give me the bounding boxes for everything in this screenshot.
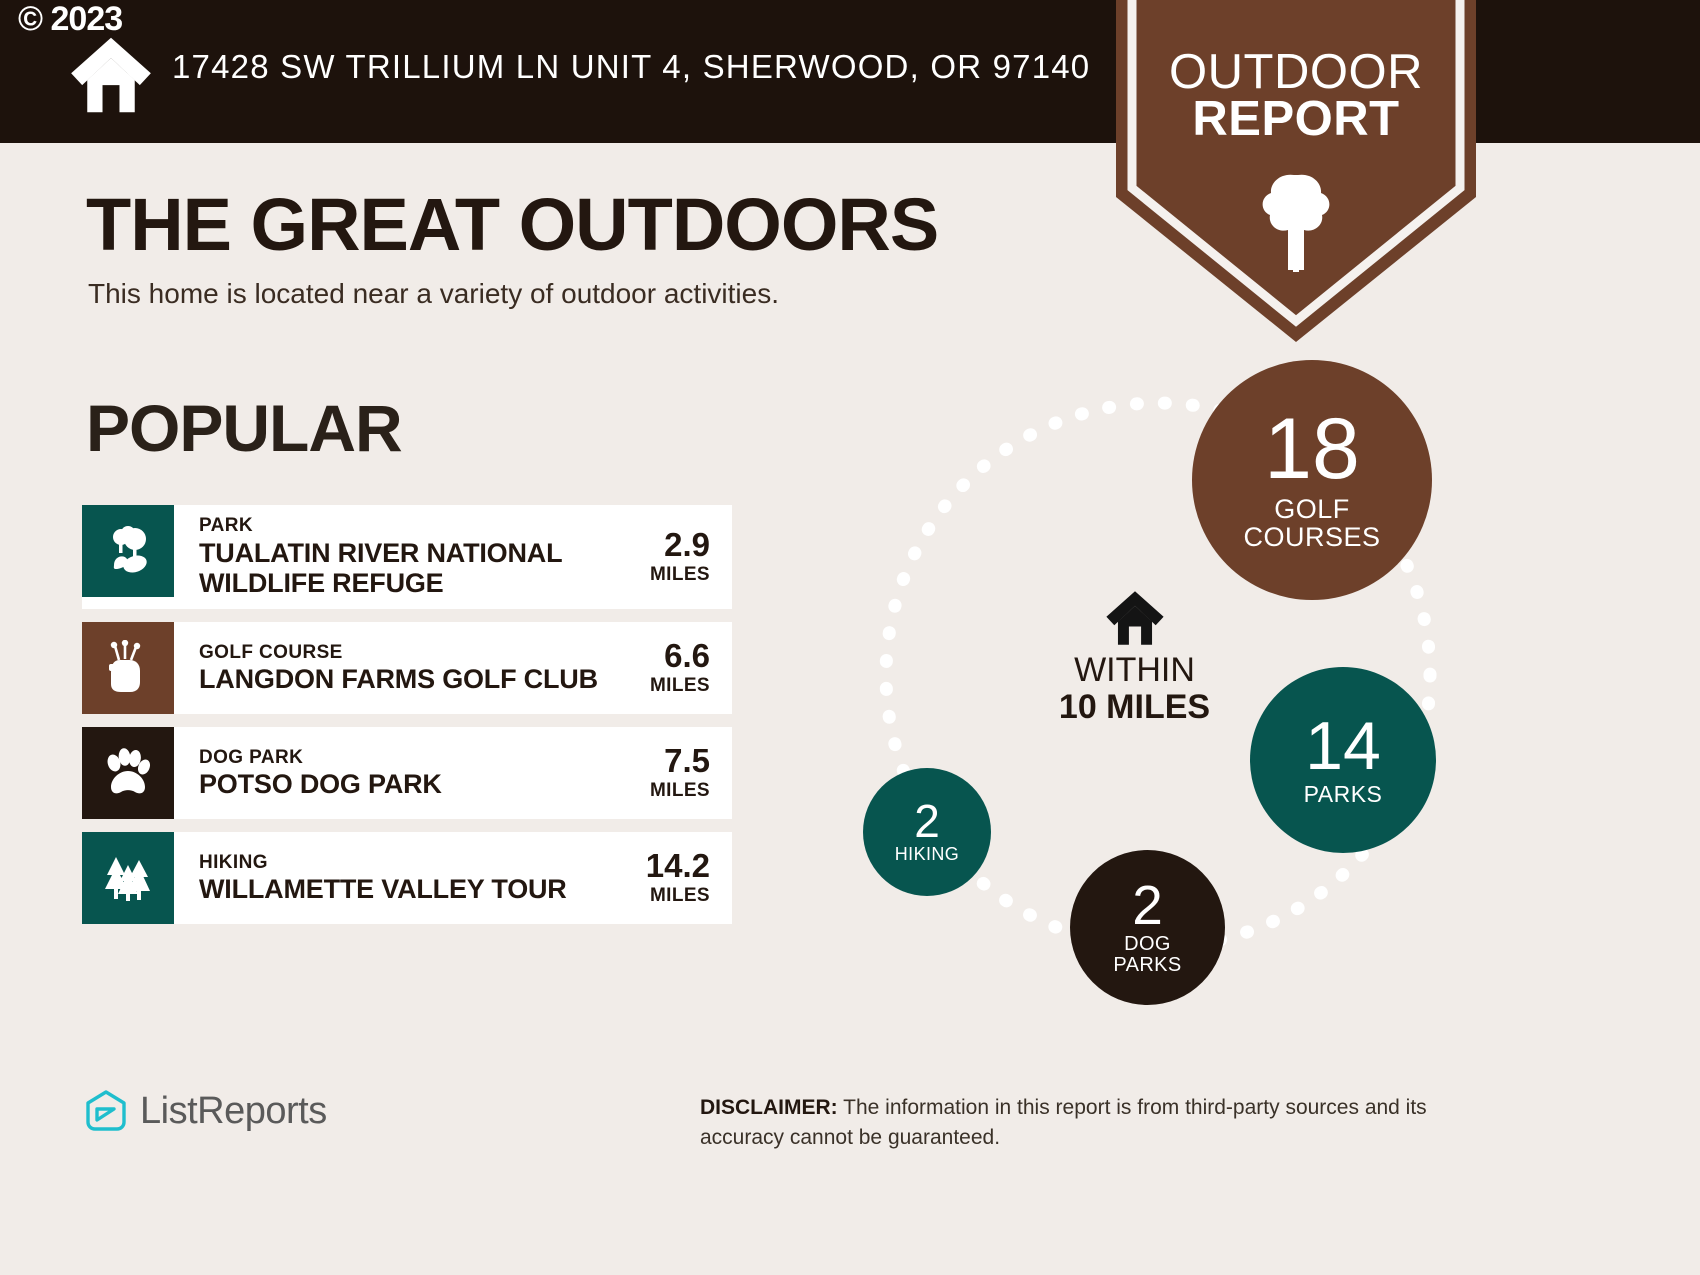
list-item-distance: 14.2 xyxy=(646,849,710,882)
diagram-center: WITHIN 10 MILES xyxy=(1032,590,1237,727)
list-item[interactable]: GOLF COURSE LANGDON FARMS GOLF CLUB 6.6 … xyxy=(82,622,732,714)
paw-print-icon xyxy=(82,727,174,819)
list-item-distance: 2.9 xyxy=(664,528,710,561)
page-subtitle: This home is located near a variety of o… xyxy=(88,278,779,310)
list-item-unit: MILES xyxy=(650,564,710,586)
diagram-center-line1: WITHIN xyxy=(1032,652,1237,689)
diagram-center-line2: 10 MILES xyxy=(1032,689,1237,726)
bubble-dog-parks[interactable]: 2 DOG PARKS xyxy=(1070,850,1225,1005)
list-item-unit: MILES xyxy=(650,780,710,802)
bubble-label: HIKING xyxy=(895,845,959,864)
list-item-category: PARK xyxy=(199,515,612,537)
badge-line-1: OUTDOOR xyxy=(1169,45,1423,99)
badge-line-2: REPORT xyxy=(1192,92,1399,146)
listreports-house-icon xyxy=(84,1089,128,1133)
list-item-name-line1: TUALATIN RIVER NATIONAL xyxy=(199,538,562,568)
listreports-logo[interactable]: ListReports xyxy=(84,1089,327,1133)
bubble-parks[interactable]: 14 PARKS xyxy=(1250,667,1436,853)
page-title: THE GREAT OUTDOORS xyxy=(86,188,938,262)
outdoor-report-badge: OUTDOOR REPORT xyxy=(1116,0,1476,347)
list-item-category: HIKING xyxy=(199,852,612,874)
listreports-logo-text: ListReports xyxy=(140,1090,327,1133)
list-item[interactable]: DOG PARK POTSO DOG PARK 7.5 MILES xyxy=(82,727,732,819)
list-item-unit: MILES xyxy=(650,885,710,907)
list-item-name-line2: WILDLIFE REFUGE xyxy=(199,568,443,598)
bubble-label: DOG PARKS xyxy=(1113,934,1181,976)
bubble-label: GOLF COURSES xyxy=(1243,495,1380,552)
golf-bag-icon xyxy=(82,622,174,714)
bubble-label-line1: GOLF xyxy=(1274,494,1350,524)
disclaimer-label: DISCLAIMER: xyxy=(700,1096,838,1119)
bubble-label-line2: PARKS xyxy=(1113,954,1181,976)
list-item-name: POTSO DOG PARK xyxy=(199,770,612,800)
bubble-label-line2: COURSES xyxy=(1243,522,1380,552)
list-item-name: TUALATIN RIVER NATIONAL WILDLIFE REFUGE xyxy=(199,538,612,598)
disclaimer: DISCLAIMER: The information in this repo… xyxy=(700,1093,1490,1154)
list-item-category: GOLF COURSE xyxy=(199,642,612,664)
section-heading-popular: POPULAR xyxy=(86,395,402,461)
list-item-distance: 6.6 xyxy=(664,639,710,672)
list-item[interactable]: HIKING WILLAMETTE VALLEY TOUR 14.2 MILES xyxy=(82,832,732,924)
list-item-category: DOG PARK xyxy=(199,747,612,769)
list-item-distance: 7.5 xyxy=(664,744,710,777)
bubble-count: 14 xyxy=(1305,714,1381,779)
home-icon xyxy=(68,36,154,114)
pine-trees-icon xyxy=(82,832,174,924)
within-10-miles-diagram: 18 GOLF COURSES 14 PARKS 2 DOG PARKS 2 H… xyxy=(820,345,1500,1025)
property-address: 17428 SW TRILLIUM LN UNIT 4, SHERWOOD, O… xyxy=(172,48,1090,86)
bubble-count: 18 xyxy=(1264,409,1360,491)
park-trees-icon xyxy=(82,505,174,597)
bubble-hiking[interactable]: 2 HIKING xyxy=(863,768,991,896)
copyright-text: © 2023 xyxy=(18,2,122,36)
list-item-unit: MILES xyxy=(650,675,710,697)
bubble-count: 2 xyxy=(1132,879,1163,931)
bubble-label: PARKS xyxy=(1304,782,1383,806)
bubble-count: 2 xyxy=(914,800,940,844)
bubble-label-line1: DOG xyxy=(1124,933,1171,955)
popular-list: PARK TUALATIN RIVER NATIONAL WILDLIFE RE… xyxy=(82,505,732,937)
bubble-golf-courses[interactable]: 18 GOLF COURSES xyxy=(1192,360,1432,600)
home-icon xyxy=(1104,590,1166,646)
list-item[interactable]: PARK TUALATIN RIVER NATIONAL WILDLIFE RE… xyxy=(82,505,732,609)
list-item-name: WILLAMETTE VALLEY TOUR xyxy=(199,875,612,905)
list-item-name: LANGDON FARMS GOLF CLUB xyxy=(199,665,612,695)
